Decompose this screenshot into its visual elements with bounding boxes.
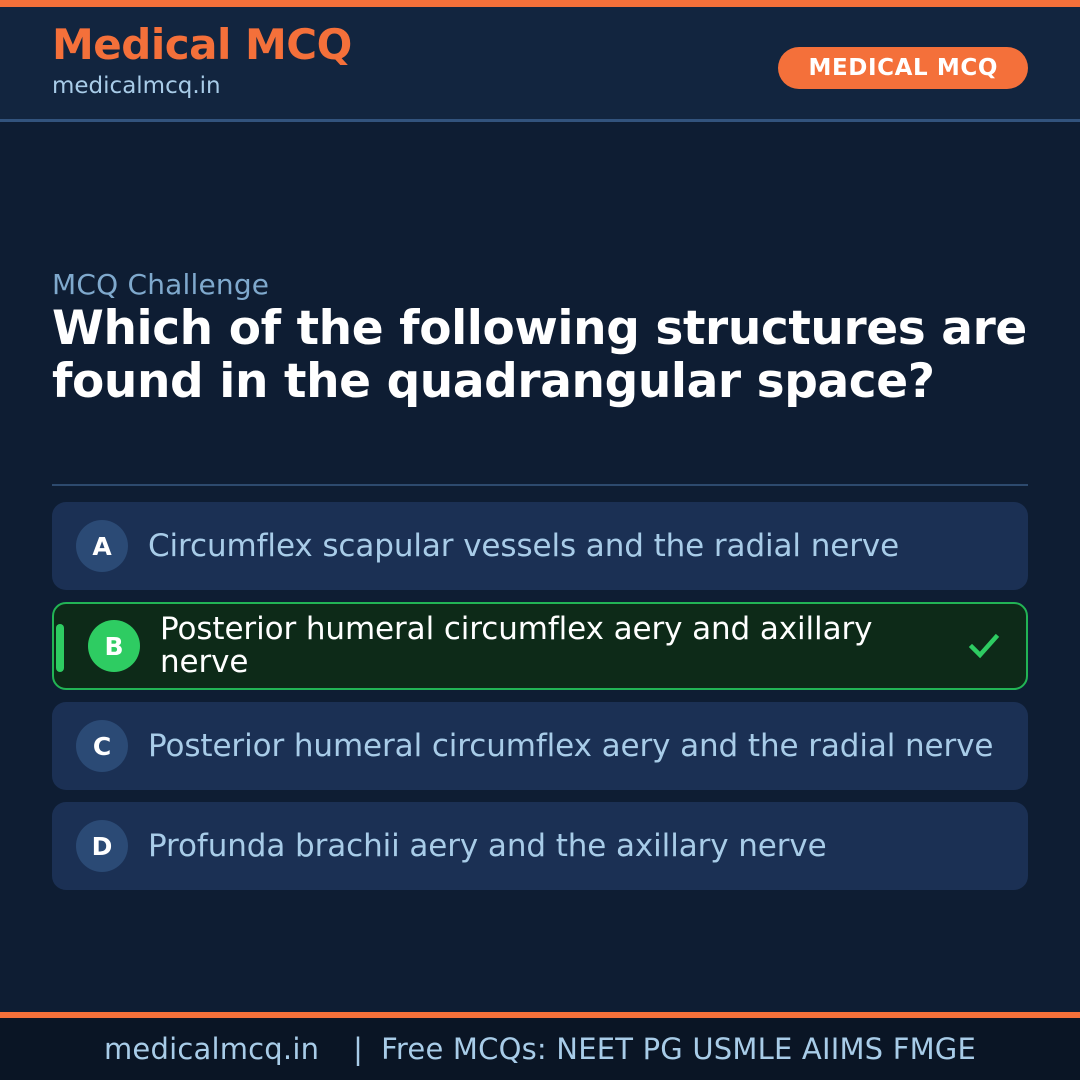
option-text-a: Circumflex scapular vessels and the radi… [148,530,1006,563]
option-text-b: Posterior humeral circumflex aery and ax… [160,613,958,679]
brand-subtitle: medicalmcq.in [52,71,352,101]
header-divider [0,119,1080,122]
top-accent-bar [0,0,1080,7]
option-row-c[interactable]: C Posterior humeral circumflex aery and … [52,702,1028,790]
page-footer: medicalmcq.in|Free MCQs: NEET PG USMLE A… [0,1018,1080,1080]
option-letter-c: C [76,720,128,772]
option-letter-a: A [76,520,128,572]
footer-site[interactable]: medicalmcq.in [104,1032,335,1066]
question-text: Which of the following structures are fo… [52,302,1037,408]
question-eyebrow: MCQ Challenge [52,268,269,301]
option-row-a[interactable]: A Circumflex scapular vessels and the ra… [52,502,1028,590]
footer-exams: Free MCQs: NEET PG USMLE AIIMS FMGE [381,1032,976,1066]
check-icon [964,626,1004,666]
option-row-d[interactable]: D Profunda brachii aery and the axillary… [52,802,1028,890]
page-header: Medical MCQ medicalmcq.in MEDICAL MCQ [0,7,1080,119]
footer-text: medicalmcq.in|Free MCQs: NEET PG USMLE A… [104,1032,976,1066]
option-letter-b: B [88,620,140,672]
brand-block: Medical MCQ medicalmcq.in [52,21,352,101]
footer-separator: | [335,1032,381,1066]
option-text-d: Profunda brachii aery and the axillary n… [148,830,1006,863]
header-badge[interactable]: MEDICAL MCQ [778,47,1028,89]
option-text-c: Posterior humeral circumflex aery and th… [148,730,1006,763]
brand-title: Medical MCQ [52,21,352,69]
options-list: A Circumflex scapular vessels and the ra… [52,502,1028,902]
question-divider [52,484,1028,486]
option-row-b[interactable]: B Posterior humeral circumflex aery and … [52,602,1028,690]
selected-accent-bar [56,624,64,672]
option-letter-d: D [76,820,128,872]
